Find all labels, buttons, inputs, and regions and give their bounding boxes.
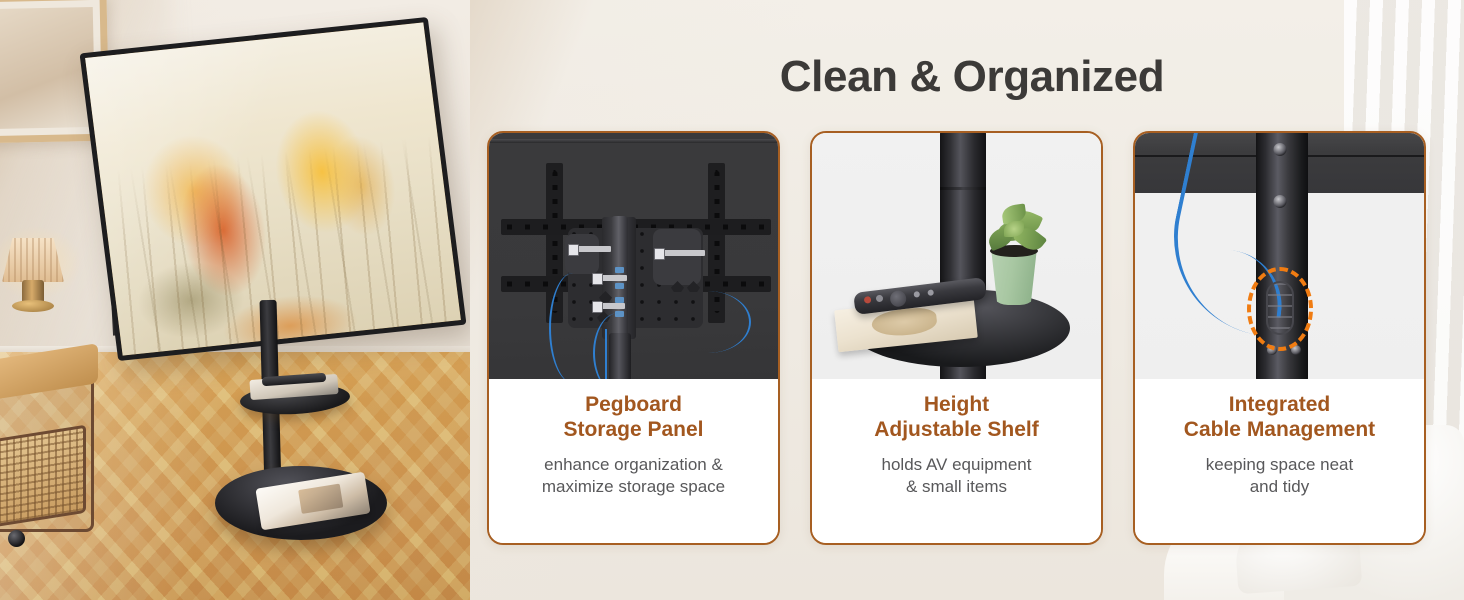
table-lamp-base bbox=[12, 300, 54, 312]
blue-cable-right bbox=[665, 291, 751, 353]
card-title-line1: Integrated bbox=[1147, 393, 1412, 418]
card-text-shelf: Height Adjustable Shelf holds AV equipme… bbox=[812, 379, 1101, 543]
tv-back-edge bbox=[489, 139, 778, 143]
card-desc-pegboard: enhance organization & maximize storage … bbox=[501, 454, 766, 500]
highlight-dashed-oval bbox=[1247, 267, 1313, 351]
feature-card-height-adjustable-shelf[interactable]: Height Adjustable Shelf holds AV equipme… bbox=[810, 131, 1103, 545]
card-desc-shelf: holds AV equipment & small items bbox=[824, 454, 1089, 500]
cart-caster-wheel bbox=[8, 530, 25, 547]
card-desc-line2: & small items bbox=[824, 476, 1089, 499]
card-title-line2: Adjustable Shelf bbox=[824, 418, 1089, 443]
card-desc-line2: maximize storage space bbox=[501, 476, 766, 499]
card-title-pegboard: Pegboard Storage Panel bbox=[501, 393, 766, 443]
card-desc-line1: enhance organization & bbox=[501, 454, 766, 477]
blue-cable-down bbox=[605, 329, 611, 379]
card-title-shelf: Height Adjustable Shelf bbox=[824, 393, 1089, 443]
lifestyle-photo bbox=[0, 0, 470, 600]
blue-cable-left bbox=[549, 273, 597, 379]
cable-tie-low bbox=[599, 303, 625, 309]
side-cart bbox=[0, 352, 108, 552]
port-3 bbox=[615, 297, 624, 303]
port-2 bbox=[615, 283, 624, 289]
pegboard-panel-photo bbox=[489, 133, 778, 379]
card-title-line2: Cable Management bbox=[1147, 418, 1412, 443]
table-lamp-shade bbox=[2, 238, 64, 282]
feature-card-integrated-cable-management[interactable]: Integrated Cable Management keeping spac… bbox=[1133, 131, 1426, 545]
card-desc-line1: keeping space neat bbox=[1147, 454, 1412, 477]
cable-management-photo bbox=[1135, 133, 1424, 379]
card-text-pegboard: Pegboard Storage Panel enhance organizat… bbox=[489, 379, 778, 543]
card-title-cable: Integrated Cable Management bbox=[1147, 393, 1412, 443]
cable-tie-right bbox=[661, 250, 705, 256]
card-title-line2: Storage Panel bbox=[501, 418, 766, 443]
card-title-line1: Height bbox=[824, 393, 1089, 418]
port-1 bbox=[615, 267, 624, 273]
cable-tie-center bbox=[599, 275, 627, 281]
remote-button-home bbox=[927, 289, 934, 296]
card-desc-cable: keeping space neat and tidy bbox=[1147, 454, 1412, 500]
remote-dpad bbox=[889, 290, 907, 308]
remote-button-back bbox=[913, 291, 920, 298]
remote-button-power bbox=[864, 296, 872, 304]
feature-cards: Pegboard Storage Panel enhance organizat… bbox=[487, 131, 1427, 545]
cable-tie-left bbox=[575, 246, 611, 252]
card-title-line1: Pegboard bbox=[501, 393, 766, 418]
remote-button-mic bbox=[876, 295, 884, 303]
card-text-cable: Integrated Cable Management keeping spac… bbox=[1135, 379, 1424, 543]
card-desc-line1: holds AV equipment bbox=[824, 454, 1089, 477]
card-desc-line2: and tidy bbox=[1147, 476, 1412, 499]
feature-card-pegboard-storage-panel[interactable]: Pegboard Storage Panel enhance organizat… bbox=[487, 131, 780, 545]
infographic-canvas: Clean & Organized bbox=[0, 0, 1464, 600]
adjustable-shelf-photo bbox=[812, 133, 1101, 379]
